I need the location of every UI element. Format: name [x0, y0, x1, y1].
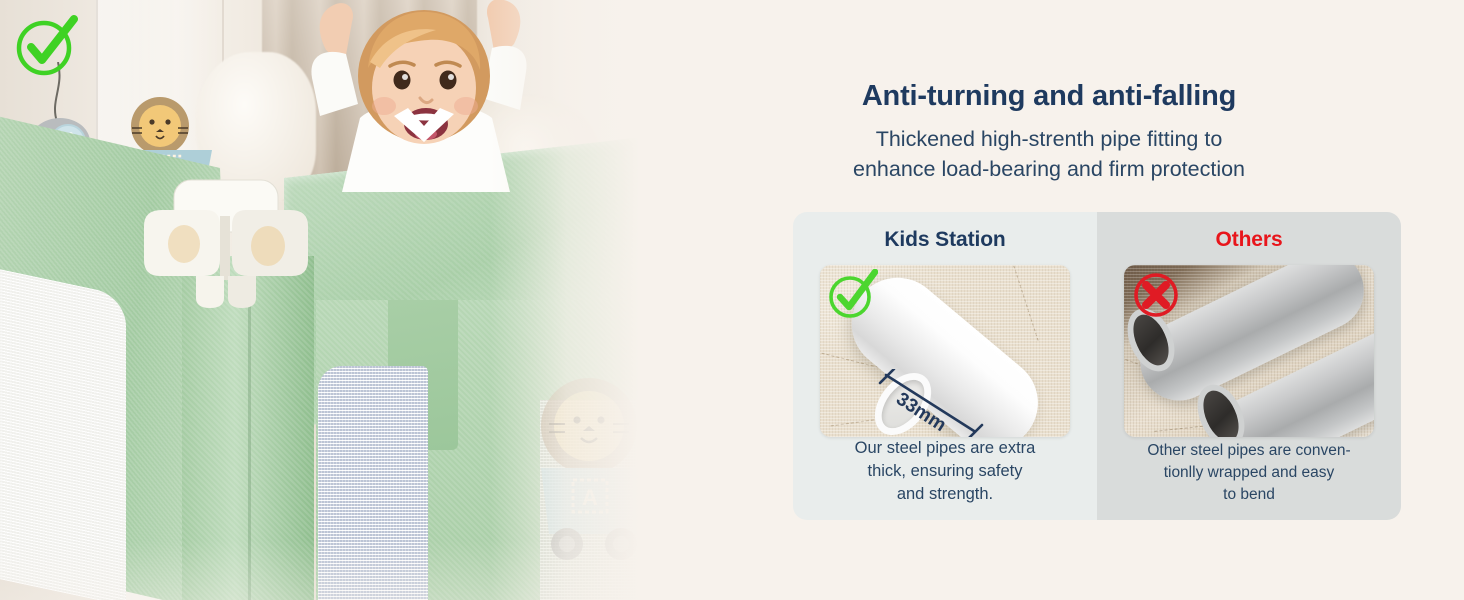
toddler-photo-subject — [268, 0, 608, 252]
pipe-photo-kids-station: 33mm — [820, 265, 1070, 437]
caption-line-2: tionlly wrapped and easy — [1109, 462, 1389, 484]
red-x-badge-icon — [1130, 269, 1182, 321]
column-title-others: Others — [1097, 228, 1401, 252]
svg-text:A: A — [582, 485, 598, 510]
comparison-column-others: Others Other steel p — [1097, 212, 1401, 520]
caption-kids-station: Our steel pipes are extra thick, ensurin… — [805, 437, 1085, 506]
pipe-photo-others — [1124, 265, 1374, 437]
caption-others: Other steel pipes are conven- tionlly wr… — [1109, 440, 1389, 506]
mesh-window-left — [0, 266, 126, 600]
comparison-column-kids-station: Kids Station — [793, 212, 1097, 520]
photo-scene: B A — [0, 0, 660, 600]
dimension-label-33mm: 33mm — [878, 369, 998, 437]
headline: Anti-turning and anti-falling — [660, 80, 1438, 113]
mesh-window-center — [318, 366, 428, 600]
green-check-badge-icon — [826, 269, 878, 321]
caption-line-3: to bend — [1109, 484, 1389, 506]
subheadline-line-1: Thickened high-strenth pipe fitting to — [660, 124, 1438, 154]
caption-line-3: and strength. — [805, 483, 1085, 506]
caption-line-2: thick, ensuring safety — [805, 460, 1085, 483]
subheadline-line-2: enhance load-bearing and firm protection — [660, 154, 1438, 184]
lion-train-car-decal-large: A — [525, 368, 653, 568]
corner-joint-hardware — [140, 176, 312, 311]
content-panel: Anti-turning and anti-falling Thickened … — [660, 0, 1464, 600]
comparison-card: Kids Station — [793, 212, 1401, 520]
caption-line-1: Other steel pipes are conven- — [1109, 440, 1389, 462]
stitch-line — [991, 265, 1038, 341]
product-photo: B A — [0, 0, 660, 600]
product-feature-banner: B A — [0, 0, 1464, 600]
caption-line-1: Our steel pipes are extra — [805, 437, 1085, 460]
green-check-badge-icon — [14, 14, 78, 78]
subheadline: Thickened high-strenth pipe fitting to e… — [660, 124, 1438, 184]
column-title-kids-station: Kids Station — [793, 228, 1097, 252]
